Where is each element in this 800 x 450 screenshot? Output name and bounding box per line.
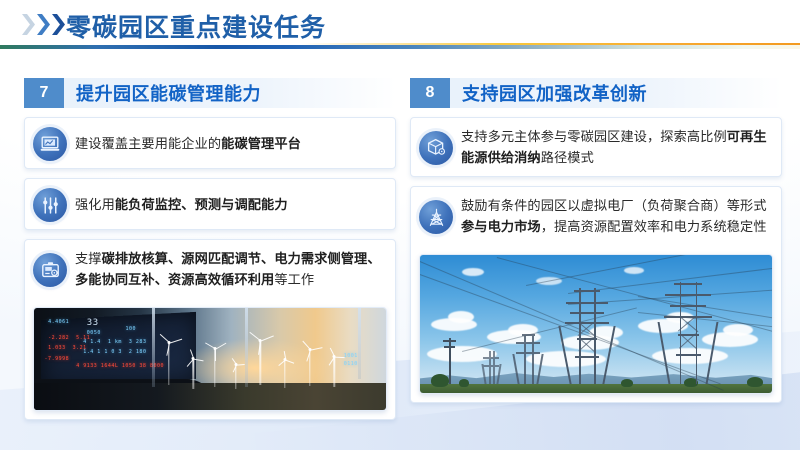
text-normal: 鼓励有条件的园区以虚拟电厂（负荷聚合商）等形式 xyxy=(461,198,767,213)
chevron-group-icon xyxy=(22,14,65,35)
chevron-right-icon-light xyxy=(22,14,35,35)
page-title: 零碳园区重点建设任务 xyxy=(66,8,326,44)
section-7-item-3-text: 支撑碳排放核算、源网匹配调节、电力需求侧管理、多能协同互补、资源高效循环利用等工… xyxy=(75,248,385,291)
section-8-item-1[interactable]: 支持多元主体参与零碳园区建设，探索高比例可再生能源供给消纳路径模式 xyxy=(410,117,782,177)
section-8-title: 支持园区加强改革创新 xyxy=(462,80,647,106)
control-room-wind-farm-photo: 4.4061 33 0050 -2.282 5.11 1.033 3.21 -7… xyxy=(33,307,387,411)
text-normal: 支持多元主体参与零碳园区建设，探索高比例 xyxy=(461,129,727,144)
chevron-right-icon-dark xyxy=(52,14,65,35)
section-7-item-2-text: 强化用能负荷监控、预测与调配能力 xyxy=(75,193,288,215)
text-bold: 能碳管理平台 xyxy=(221,136,301,151)
slide-header: 零碳园区重点建设任务 xyxy=(0,0,800,56)
toolbox-gear-icon xyxy=(33,253,67,287)
monitor-chart-icon xyxy=(33,127,67,161)
text-normal: 建设覆盖主要用能企业的 xyxy=(75,136,221,151)
section-7-item-1[interactable]: 建设覆盖主要用能企业的能碳管理平台 xyxy=(24,117,396,169)
section-8-item-1-text: 支持多元主体参与零碳园区建设，探索高比例可再生能源供给消纳路径模式 xyxy=(461,125,771,169)
section-7-item-1-text: 建设覆盖主要用能企业的能碳管理平台 xyxy=(75,132,301,154)
section-7-column: 7 提升园区能碳管理能力 建设覆盖主要用能企业的能碳管理平台 xyxy=(24,78,396,420)
text-bold: 参与电力市场 xyxy=(461,219,541,234)
text-normal: 支撑 xyxy=(75,251,102,266)
text-bold: 碳排放核算、源网匹配调节、电力需求侧管理、多能协同互补、资源高效循环利用 xyxy=(75,251,381,287)
text-normal: 强化用 xyxy=(75,197,115,212)
section-7-item-3[interactable]: 支撑碳排放核算、源网匹配调节、电力需求侧管理、多能协同互补、资源高效循环利用等工… xyxy=(24,239,396,420)
chevron-right-icon-medium xyxy=(37,14,50,35)
section-7-header: 7 提升园区能碳管理能力 xyxy=(24,78,396,108)
section-7-item-2[interactable]: 强化用能负荷监控、预测与调配能力 xyxy=(24,178,396,230)
section-7-number-badge: 7 xyxy=(24,78,64,108)
text-normal-tail: 等工作 xyxy=(274,272,314,287)
text-normal-tail: ，提高资源配置效率和电力系统稳定性 xyxy=(541,219,767,234)
header-divider-line xyxy=(0,45,800,49)
section-8-header: 8 支持园区加强改革创新 xyxy=(410,78,782,108)
cube-gear-icon xyxy=(419,131,453,165)
transmission-tower-icon xyxy=(419,200,453,234)
sliders-icon xyxy=(33,188,67,222)
transmission-pylons-sky-photo xyxy=(419,254,773,394)
text-bold: 能负荷监控、预测与调配能力 xyxy=(115,197,288,212)
section-8-number-badge: 8 xyxy=(410,78,450,108)
section-8-item-2-text: 鼓励有条件的园区以虚拟电厂（负荷聚合商）等形式参与电力市场，提高资源配置效率和电… xyxy=(461,195,771,238)
text-normal-tail: 路径模式 xyxy=(541,150,594,165)
slide-canvas: 零碳园区重点建设任务 7 提升园区能碳管理能力 建设覆盖主要用能企业的能碳管理平… xyxy=(0,0,800,450)
section-8-item-2[interactable]: 鼓励有条件的园区以虚拟电厂（负荷聚合商）等形式参与电力市场，提高资源配置效率和电… xyxy=(410,186,782,403)
section-7-title: 提升园区能碳管理能力 xyxy=(76,80,261,106)
section-8-column: 8 支持园区加强改革创新 支持多元主体参与零碳园区建设，探索高比例可再生能源供给… xyxy=(410,78,782,403)
